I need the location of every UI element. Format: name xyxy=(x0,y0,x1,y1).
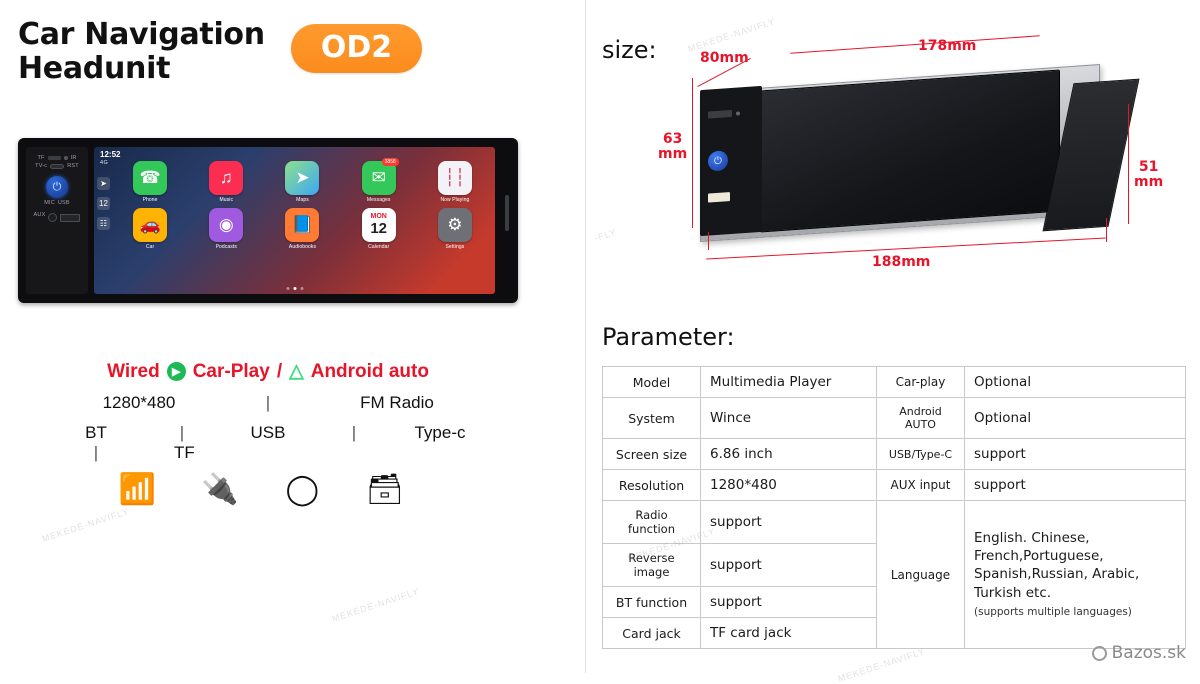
app-tile[interactable]: MON 12 Calendar xyxy=(345,208,413,250)
page-root: Car Navigation Headunit OD2 TF IR TV-c R… xyxy=(0,0,1200,673)
param-value: TF card jack xyxy=(701,618,877,649)
type-c-icon: ◯ xyxy=(261,475,344,505)
carplay-label: Car-Play xyxy=(193,361,270,383)
screen-side-rail: ➤ 12 ☷ xyxy=(97,177,110,230)
device-3d-faceplate: ⏻ xyxy=(700,86,762,236)
left-panel: Car Navigation Headunit OD2 TF IR TV-c R… xyxy=(0,0,585,673)
dimension-height-left: 63 mm xyxy=(658,132,687,161)
music-icon[interactable]: ♫ xyxy=(209,161,243,195)
usb-c-port-icon xyxy=(50,164,64,169)
param-value: Optional xyxy=(965,367,1186,398)
page-title: Car Navigation Headunit xyxy=(18,18,265,85)
param-key: Radio function xyxy=(603,501,701,544)
app-label: Maps xyxy=(268,197,336,203)
carplay-icon: ▶ xyxy=(167,362,186,381)
dimension-height-right: 51 mm xyxy=(1134,160,1163,189)
car-icon[interactable]: 🚗 xyxy=(133,208,167,242)
power-button[interactable]: ⏻ xyxy=(46,176,68,198)
param-key-language: Language xyxy=(877,501,965,649)
param-value: support xyxy=(965,470,1186,501)
slash-label: / xyxy=(277,361,282,383)
usb-label: USB xyxy=(58,200,70,206)
app-tile[interactable]: ➤ Maps xyxy=(268,161,336,203)
dimension-depth: 80mm xyxy=(700,50,749,66)
usbc-label: TV-c xyxy=(35,163,47,169)
app-label: Messages xyxy=(345,197,413,203)
ir-label: IR xyxy=(71,155,77,161)
typec-label: Type-c xyxy=(362,423,518,443)
param-key: Screen size xyxy=(603,439,701,470)
android-auto-icon: △ xyxy=(289,360,304,383)
status-time: 12:52 xyxy=(100,150,120,159)
usb-label: USB xyxy=(190,423,346,443)
usb-a-port-icon xyxy=(60,214,80,222)
site-name: Bazos.sk xyxy=(1112,643,1186,663)
model-badge: OD2 xyxy=(291,24,422,73)
usbc-row: TV-c RST xyxy=(35,163,79,169)
app-label: Car xyxy=(116,244,184,250)
param-value: support xyxy=(701,501,877,544)
calendar-icon[interactable]: MON 12 xyxy=(362,208,396,242)
features-line-1: Wired ▶ Car-Play / △ Android auto xyxy=(18,360,518,383)
maps-icon[interactable]: ➤ xyxy=(285,161,319,195)
param-value: Optional xyxy=(965,398,1186,439)
podcasts-icon[interactable]: ◉ xyxy=(209,208,243,242)
param-value-language: English. Chinese, French,Portuguese, Spa… xyxy=(965,501,1186,649)
resolution-label: 1280*480 xyxy=(18,393,260,413)
app-label: Settings xyxy=(421,244,489,250)
separator: | xyxy=(346,423,362,443)
param-value: 6.86 inch xyxy=(701,439,877,470)
page-dot-active xyxy=(293,287,296,290)
phone-icon[interactable]: ☎ xyxy=(133,161,167,195)
right-panel: size: Parameter: xyxy=(585,0,1200,673)
app-tile[interactable]: ✉ 3858 Messages xyxy=(345,161,413,203)
param-key: BT function xyxy=(603,587,701,618)
page-dot xyxy=(286,287,289,290)
watermark: MEKEDE-NAVIFLY xyxy=(331,586,421,624)
dimension-width-top: 178mm xyxy=(918,38,976,54)
table-row: System Wince Android AUTO Optional xyxy=(603,398,1186,439)
bluetooth-icon: 📶 xyxy=(96,475,179,505)
param-value: support xyxy=(965,439,1186,470)
param-value: 1280*480 xyxy=(701,470,877,501)
app-label: Calendar xyxy=(345,244,413,250)
settings-icon[interactable]: ⚙ xyxy=(438,208,472,242)
clock-widget[interactable]: 12 xyxy=(97,197,110,210)
param-key: Reverse image xyxy=(603,544,701,587)
title-row: Car Navigation Headunit OD2 xyxy=(18,18,538,85)
app-label: Music xyxy=(192,197,260,203)
watermark: MEKEDE-NAVIFLY xyxy=(41,506,131,544)
messages-badge: 3858 xyxy=(382,158,399,166)
param-key: System xyxy=(603,398,701,439)
aux-label: AUX xyxy=(34,212,46,218)
param-key: Car-play xyxy=(877,367,965,398)
bt-label: BT xyxy=(18,423,174,443)
messages-icon[interactable]: ✉ 3858 xyxy=(362,161,396,195)
status-network: 4G xyxy=(100,160,108,166)
param-key: Card jack xyxy=(603,618,701,649)
app-label: Now Playing xyxy=(421,197,489,203)
param-value: support xyxy=(701,587,877,618)
tf-label: TF xyxy=(174,443,190,463)
param-key: USB/Type-C xyxy=(877,439,965,470)
app-tile[interactable]: ⚙ Settings xyxy=(421,208,489,250)
parameter-heading: Parameter: xyxy=(602,323,735,351)
features-line-3: BT | USB | Type-c | TF xyxy=(18,423,518,463)
param-value: support xyxy=(701,544,877,587)
app-tile[interactable]: 🚗 Car xyxy=(116,208,184,250)
table-row: Radio function support Language English.… xyxy=(603,501,1186,544)
list-icon[interactable]: ☷ xyxy=(97,217,110,230)
device-right-edge xyxy=(500,147,510,294)
features-line-2: 1280*480 | FM Radio xyxy=(18,393,518,413)
param-key: Android AUTO xyxy=(877,398,965,439)
tf-label: TF xyxy=(37,155,44,161)
app-label: Audiobooks xyxy=(268,244,336,250)
tf-slot-icon xyxy=(708,110,732,119)
tf-slot-icon xyxy=(48,156,61,160)
table-row: Resolution 1280*480 AUX input support xyxy=(603,470,1186,501)
param-value: Multimedia Player xyxy=(701,367,877,398)
app-tile[interactable]: ☎ Phone xyxy=(116,161,184,203)
language-list: English. Chinese, French,Portuguese, Spa… xyxy=(974,530,1139,601)
table-row: Screen size 6.86 inch USB/Type-C support xyxy=(603,439,1186,470)
fm-radio-label: FM Radio xyxy=(276,393,518,413)
features-block: Wired ▶ Car-Play / △ Android auto 1280*4… xyxy=(18,360,518,505)
tf-ir-row: TF IR xyxy=(37,155,76,161)
table-row: Model Multimedia Player Car-play Optiona… xyxy=(603,367,1186,398)
app-label: Podcasts xyxy=(192,244,260,250)
app-grid: ☎ Phone ♫ Music ➤ Maps ✉ xyxy=(116,161,489,250)
device-3d-screen xyxy=(760,70,1060,233)
app-tile[interactable]: ┆┆ Now Playing xyxy=(421,161,489,203)
separator: | xyxy=(174,423,190,443)
param-key: Resolution xyxy=(603,470,701,501)
mic-row: MIC USB xyxy=(44,200,70,206)
compass-icon[interactable]: ➤ xyxy=(97,177,110,190)
aux-row: AUX xyxy=(34,208,81,222)
param-key: AUX input xyxy=(877,470,965,501)
app-label: Phone xyxy=(116,197,184,203)
app-tile[interactable]: ◉ Podcasts xyxy=(192,208,260,250)
page-indicator[interactable] xyxy=(286,287,303,290)
app-tile[interactable]: 📘 Audiobooks xyxy=(268,208,336,250)
param-key: Model xyxy=(603,367,701,398)
usb-a-port-icon xyxy=(708,192,730,203)
android-auto-label: Android auto xyxy=(311,361,429,383)
watermark: MEKEDE-NAVIFLY xyxy=(837,646,927,684)
audiobooks-icon[interactable]: 📘 xyxy=(285,208,319,242)
title-line-1: Car Navigation xyxy=(18,18,265,52)
page-dot xyxy=(300,287,303,290)
device-left-connectors: TF IR TV-c RST ⏻ MIC USB AUX xyxy=(26,147,88,294)
parameter-table: Model Multimedia Player Car-play Optiona… xyxy=(602,366,1186,649)
now-playing-icon[interactable]: ┆┆ xyxy=(438,161,472,195)
watermark-short: -FLY xyxy=(593,227,618,244)
param-value: Wince xyxy=(701,398,877,439)
usb-flash-icon: 🔌 xyxy=(179,475,262,505)
separator: | xyxy=(260,393,276,413)
app-tile[interactable]: ♫ Music xyxy=(192,161,260,203)
device-3d-photo: ⏻ 80mm 178mm 63 mm 51 mm 188mm xyxy=(682,42,1182,302)
calendar-day-number: 12 xyxy=(370,221,387,237)
reset-label: RST xyxy=(67,163,79,169)
title-line-2: Headunit xyxy=(18,52,265,86)
ir-sensor-icon xyxy=(736,111,740,115)
feature-icon-row: 📶 🔌 ◯ 🗃 xyxy=(96,475,426,505)
site-watermark: Bazos.sk xyxy=(1092,643,1186,663)
device-front-photo: TF IR TV-c RST ⏻ MIC USB AUX xyxy=(18,138,518,303)
mic-label: MIC xyxy=(44,200,55,206)
tf-card-icon: 🗃 xyxy=(344,475,427,505)
language-note: (supports multiple languages) xyxy=(974,606,1132,618)
at-icon xyxy=(1092,646,1107,661)
power-button[interactable]: ⏻ xyxy=(708,150,728,171)
device-screen: 12:52 4G ➤ 12 ☷ ☎ Phone ♫ xyxy=(94,147,495,294)
size-heading: size: xyxy=(602,36,657,64)
dimension-width-bottom: 188mm xyxy=(872,254,930,270)
wired-label: Wired xyxy=(107,361,160,383)
aux-jack-icon xyxy=(48,213,57,222)
separator: | xyxy=(18,443,174,463)
ir-sensor-icon xyxy=(64,156,68,160)
